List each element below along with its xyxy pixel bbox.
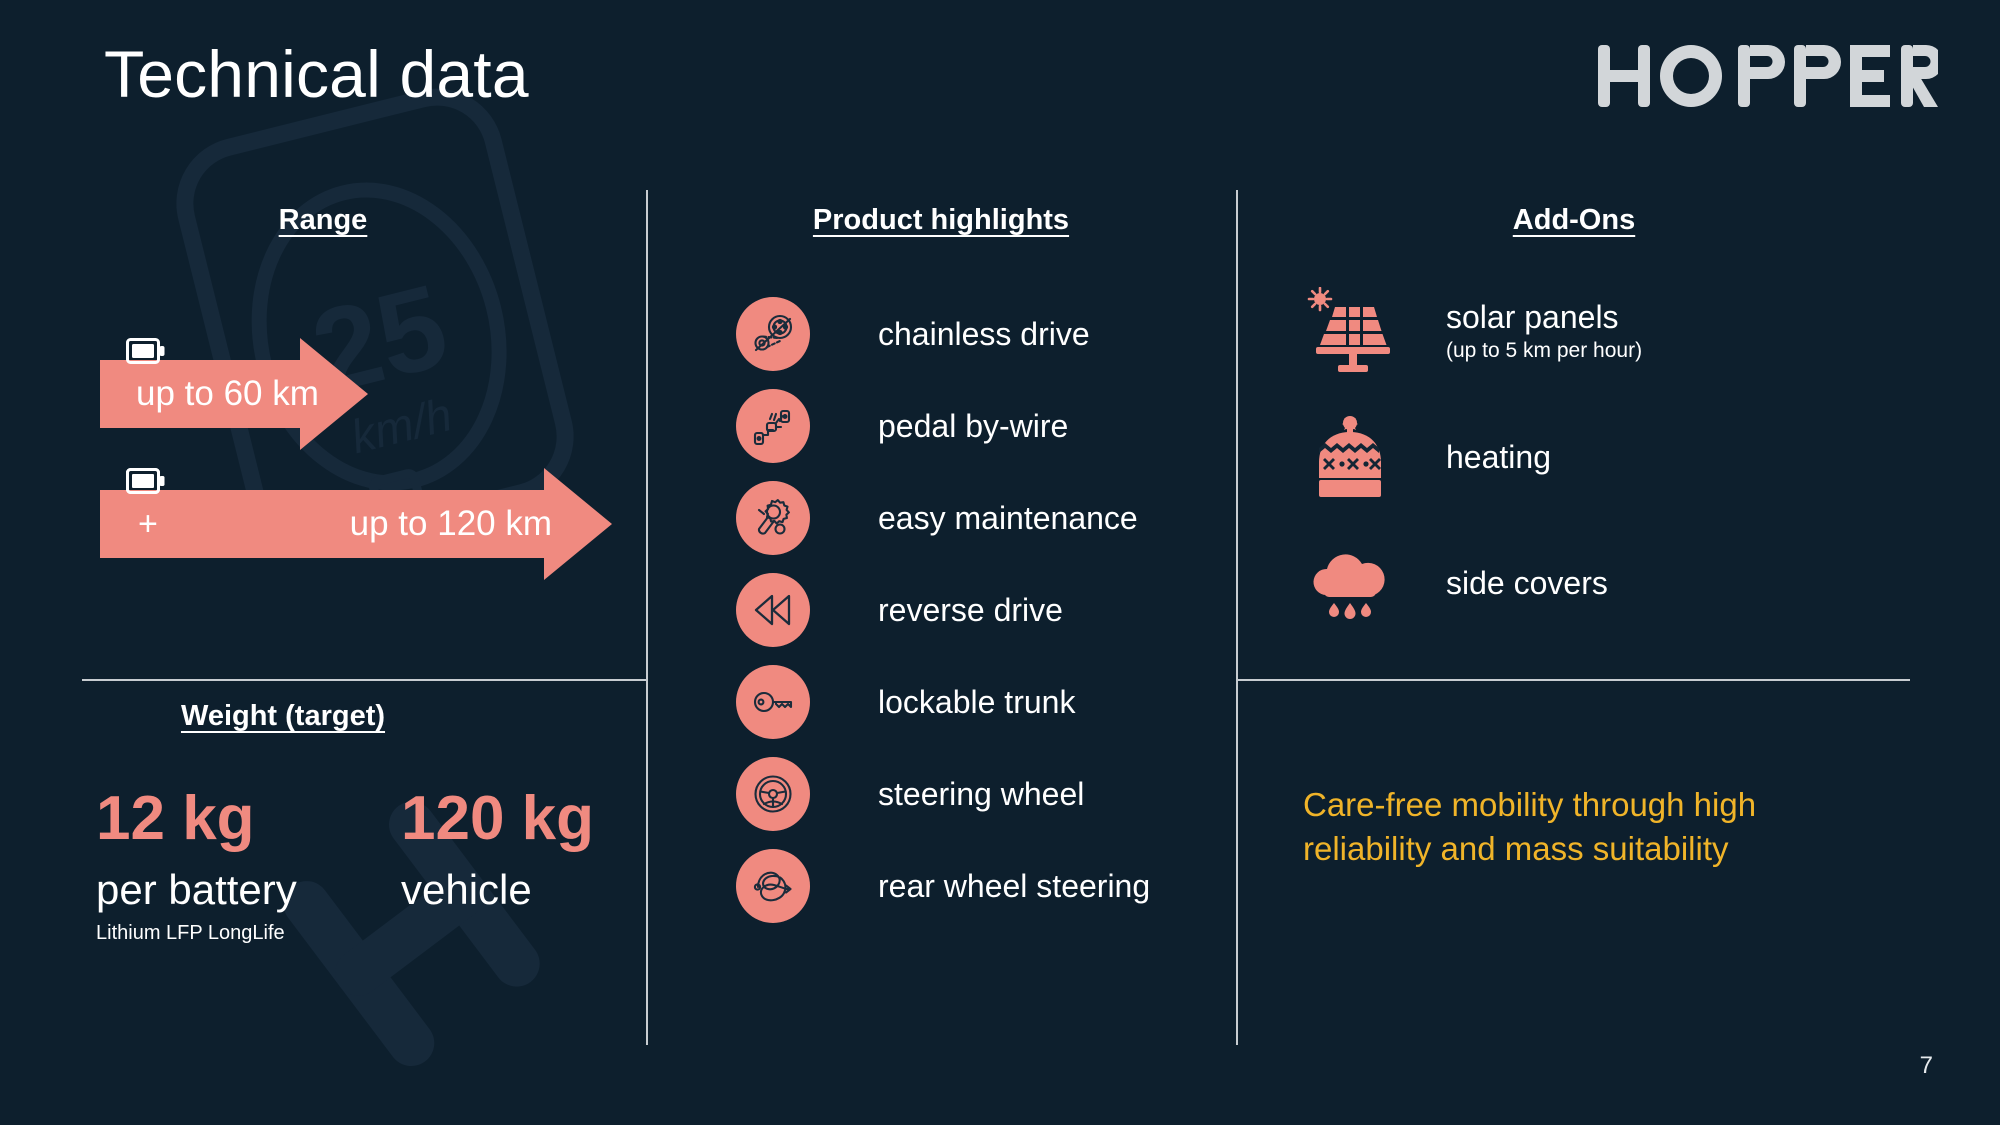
list-item[interactable]: heating xyxy=(1300,394,1642,520)
divider-vertical-left xyxy=(646,190,648,1045)
list-item-label: steering wheel xyxy=(878,776,1084,813)
page-number: 7 xyxy=(1920,1052,1933,1080)
hopper-logo: HOPPER xyxy=(1598,45,1938,107)
rewind-icon xyxy=(736,573,810,647)
list-item[interactable]: side covers xyxy=(1300,520,1642,646)
list-item[interactable]: easy maintenance xyxy=(736,472,1150,564)
weight-label-vehicle: vehicle xyxy=(401,868,594,912)
rain-cloud-icon xyxy=(1300,537,1400,629)
steering-wheel-icon xyxy=(736,757,810,831)
range-arrow-label-1: up to 60 km xyxy=(126,338,319,450)
weight-value-vehicle: 120 kg xyxy=(401,788,594,850)
product-highlights-list: chainless drive pedal by-wire xyxy=(736,288,1150,932)
list-item[interactable]: solar panels (up to 5 km per hour) xyxy=(1300,268,1642,394)
list-item[interactable]: rear wheel steering xyxy=(736,840,1150,932)
list-item[interactable]: lockable trunk xyxy=(736,656,1150,748)
list-item[interactable]: pedal by-wire xyxy=(736,380,1150,472)
solar-panel-icon xyxy=(1300,285,1400,377)
page-title: Technical data xyxy=(104,38,529,111)
list-item-label: solar panels xyxy=(1446,299,1642,336)
weight-value-battery: 12 kg xyxy=(96,788,401,850)
list-item-label: pedal by-wire xyxy=(878,408,1068,445)
rear-wheel-steering-icon xyxy=(736,849,810,923)
addons-list: solar panels (up to 5 km per hour) xyxy=(1300,268,1642,646)
list-item-label: rear wheel steering xyxy=(878,868,1150,905)
weight-label-battery: per battery xyxy=(96,868,401,912)
range-arrow-double-battery: + up to 120 km xyxy=(100,468,612,580)
section-heading-weight: Weight (target) xyxy=(0,700,566,733)
section-heading-addons: Add-Ons xyxy=(1236,204,1912,237)
weight-item-vehicle: 120 kg vehicle xyxy=(401,788,594,945)
addons-tagline: Care-free mobility through high reliabil… xyxy=(1303,783,1823,871)
list-item-label: chainless drive xyxy=(878,316,1090,353)
list-item[interactable]: steering wheel xyxy=(736,748,1150,840)
range-label-1-text: up to 60 km xyxy=(136,374,319,414)
list-item-note: (up to 5 km per hour) xyxy=(1446,339,1642,363)
list-item-label: lockable trunk xyxy=(878,684,1075,721)
divider-horizontal-right xyxy=(1238,679,1910,681)
weight-values: 12 kg per battery Lithium LFP LongLife 1… xyxy=(96,788,594,945)
range-label-2-text: up to 120 km xyxy=(350,504,552,544)
range-arrow-single-battery: up to 60 km xyxy=(100,338,368,450)
pedal-by-wire-icon xyxy=(736,389,810,463)
beanie-hat-icon xyxy=(1300,411,1400,503)
list-item-label: side covers xyxy=(1446,565,1608,602)
weight-note-battery: Lithium LFP LongLife xyxy=(96,922,401,945)
plus-separator: + xyxy=(138,505,158,544)
list-item-label: heating xyxy=(1446,439,1551,476)
section-heading-range: Range xyxy=(0,204,646,237)
slide-root: 25 km/h Technical data xyxy=(0,0,2000,1125)
chainless-drive-icon xyxy=(736,297,810,371)
section-heading-product-highlights: Product highlights xyxy=(646,204,1236,237)
list-item-label: easy maintenance xyxy=(878,500,1138,537)
divider-vertical-right xyxy=(1236,190,1238,1045)
list-item-label: reverse drive xyxy=(878,592,1063,629)
divider-horizontal-left xyxy=(82,679,646,681)
range-arrow-label-2: + up to 120 km xyxy=(126,468,552,580)
key-icon xyxy=(736,665,810,739)
list-item[interactable]: chainless drive xyxy=(736,288,1150,380)
weight-item-battery: 12 kg per battery Lithium LFP LongLife xyxy=(96,788,401,945)
gear-wrench-icon xyxy=(736,481,810,555)
list-item[interactable]: reverse drive xyxy=(736,564,1150,656)
